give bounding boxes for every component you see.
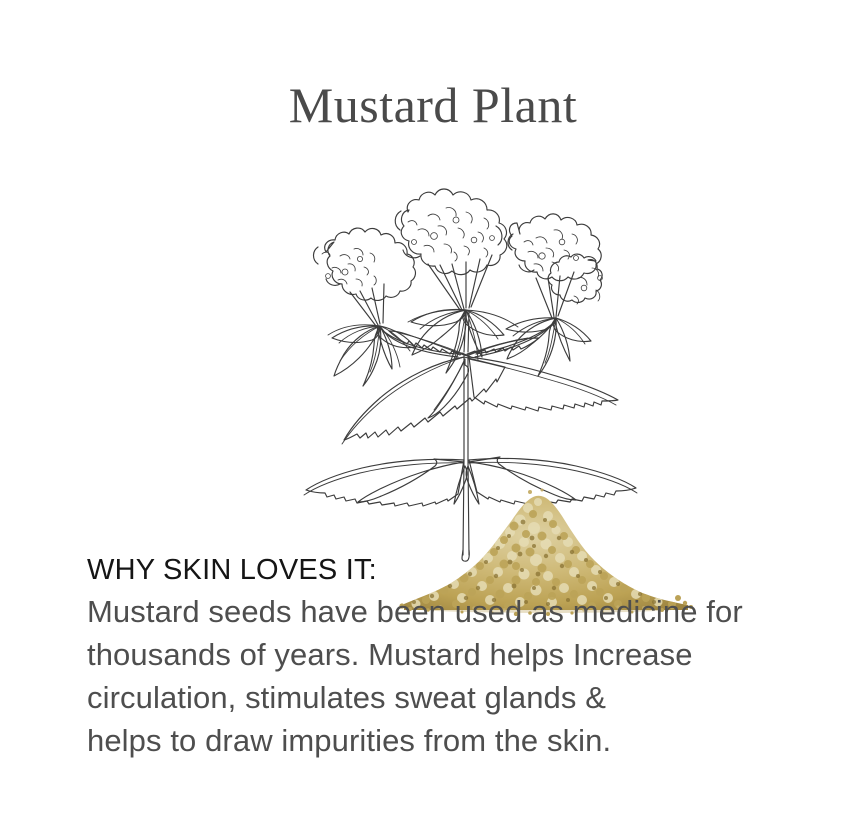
body-paragraph: Mustard seeds have been used as medicine… — [87, 590, 827, 762]
leaf-whorl-left — [328, 325, 415, 386]
why-skin-loves-it-heading: WHY SKIN LOVES IT: — [87, 552, 827, 588]
mid-leaf-whorl — [342, 331, 618, 444]
body-line-1: Mustard seeds have been used as medicine… — [87, 590, 827, 633]
flower-cluster-left — [314, 228, 416, 326]
page-title: Mustard Plant — [0, 76, 866, 134]
body-line-3: circulation, stimulates sweat glands & — [87, 676, 827, 719]
copy-block: WHY SKIN LOVES IT: Mustard seeds have be… — [87, 552, 827, 762]
flower-cluster-center — [395, 189, 507, 310]
mustard-plant-infographic: Mustard Plant — [0, 0, 866, 826]
flower-cluster-right — [508, 214, 602, 318]
body-line-2: thousands of years. Mustard helps Increa… — [87, 633, 827, 676]
body-line-4: helps to draw impurities from the skin. — [87, 719, 827, 762]
